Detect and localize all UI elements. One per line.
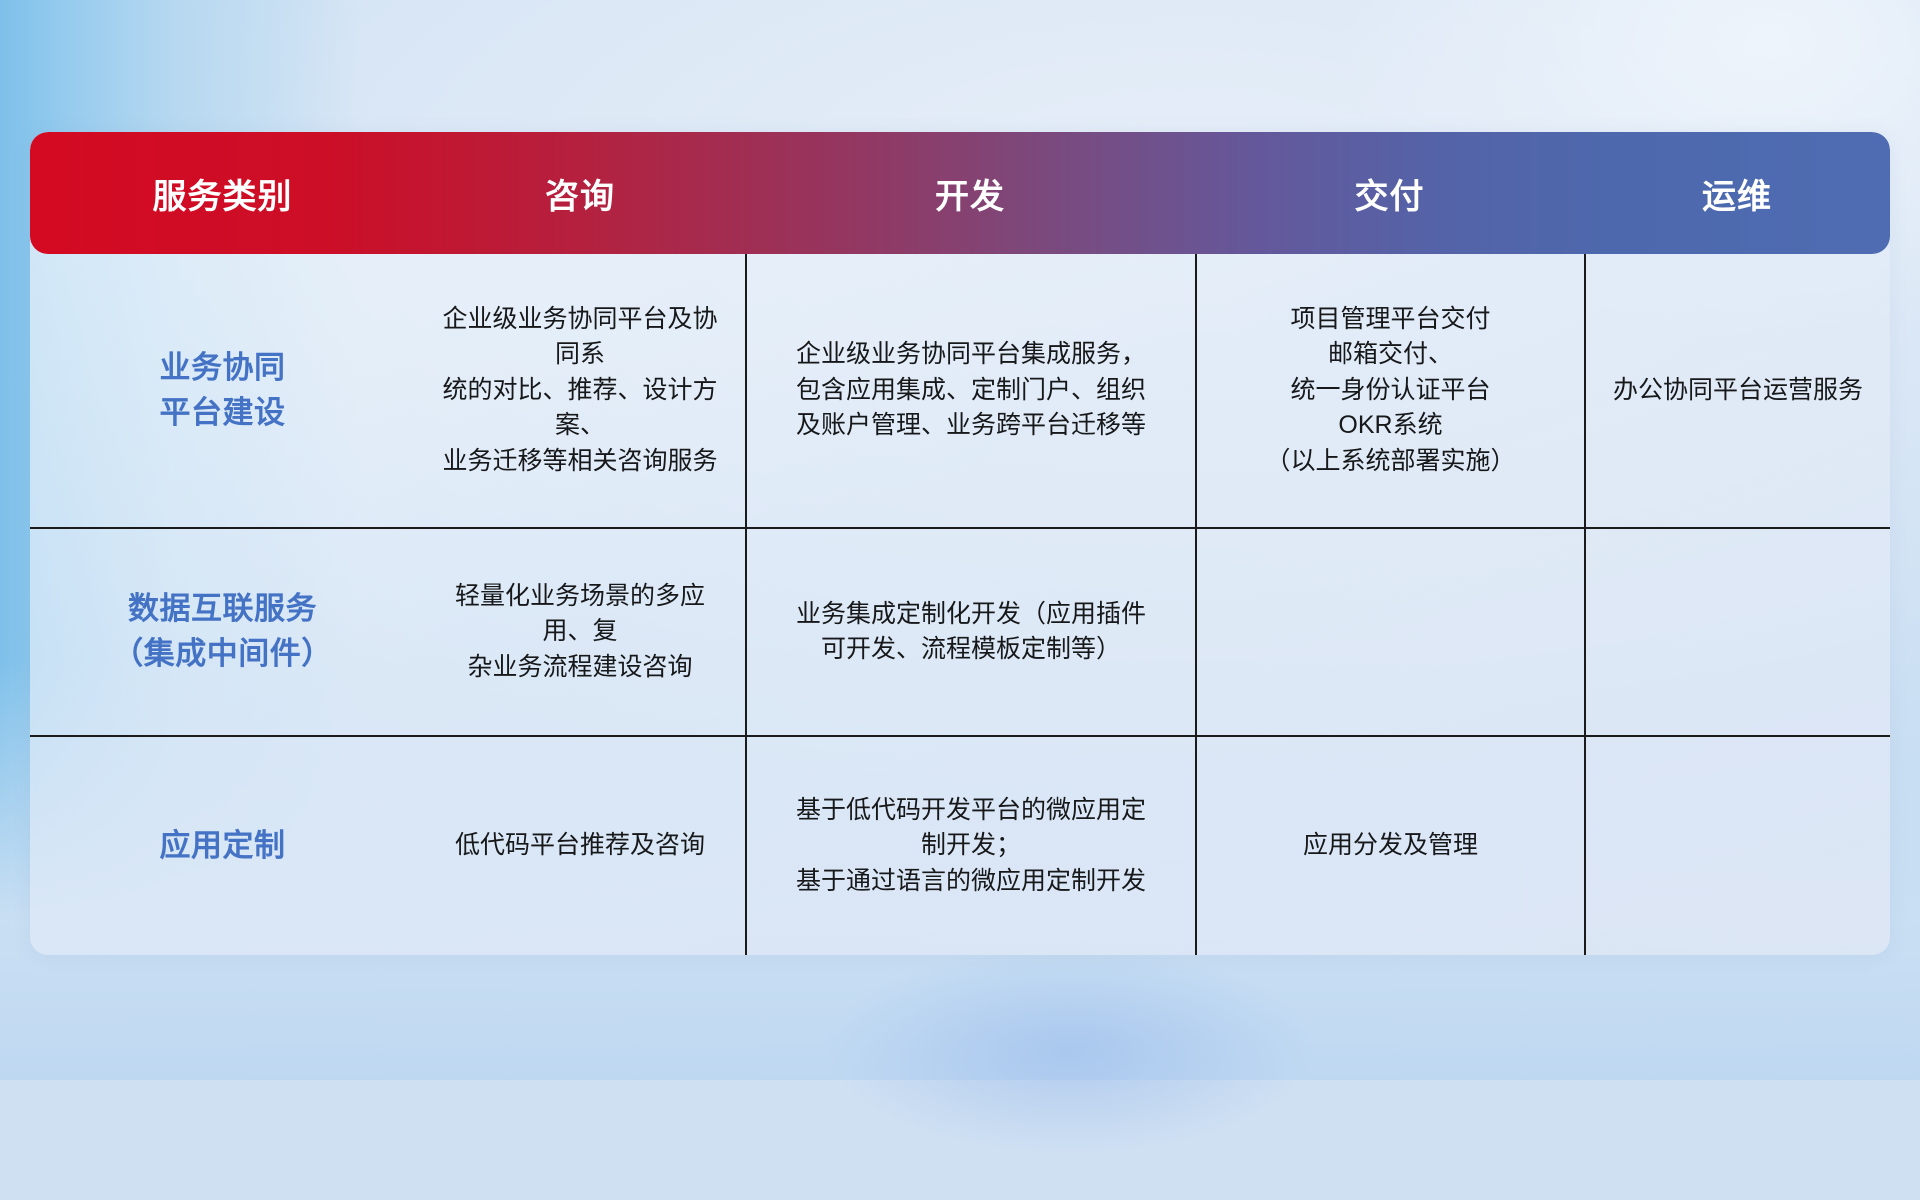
table-row: 应用定制 低代码平台推荐及咨询 基于低代码开发平台的微应用定 制开发； 基于通过… (30, 735, 1890, 955)
service-matrix-panel: 服务类别 咨询 开发 交付 运维 业务协同 平台建设 企业级业务协同平台及协同系… (30, 132, 1890, 955)
table-header-row: 服务类别 咨询 开发 交付 运维 (30, 132, 1890, 254)
cell-delivery (1195, 529, 1584, 735)
column-header-delivery: 交付 (1195, 169, 1584, 218)
column-header-service-category: 服务类别 (30, 169, 415, 218)
cell-delivery: 应用分发及管理 (1195, 737, 1584, 955)
cell-operations (1584, 737, 1890, 955)
cell-development: 企业级业务协同平台集成服务， 包含应用集成、定制门户、组织 及账户管理、业务跨平… (745, 254, 1195, 527)
cell-operations: 办公协同平台运营服务 (1584, 254, 1890, 527)
row-category-label: 数据互联服务 （集成中间件） (30, 529, 415, 735)
table-body: 业务协同 平台建设 企业级业务协同平台及协同系 统的对比、推荐、设计方案、 业务… (30, 254, 1890, 955)
column-header-development: 开发 (745, 169, 1195, 218)
column-header-consulting: 咨询 (415, 169, 745, 218)
cell-consulting: 轻量化业务场景的多应用、复 杂业务流程建设咨询 (415, 529, 745, 735)
table-row: 数据互联服务 （集成中间件） 轻量化业务场景的多应用、复 杂业务流程建设咨询 业… (30, 527, 1890, 735)
cell-consulting: 企业级业务协同平台及协同系 统的对比、推荐、设计方案、 业务迁移等相关咨询服务 (415, 254, 745, 527)
cell-consulting: 低代码平台推荐及咨询 (415, 737, 745, 955)
column-header-operations: 运维 (1584, 169, 1890, 218)
cell-development: 基于低代码开发平台的微应用定 制开发； 基于通过语言的微应用定制开发 (745, 737, 1195, 955)
cell-delivery: 项目管理平台交付 邮箱交付、 统一身份认证平台 OKR系统 （以上系统部署实施） (1195, 254, 1584, 527)
row-category-label: 应用定制 (30, 737, 415, 955)
cell-operations (1584, 529, 1890, 735)
row-category-label: 业务协同 平台建设 (30, 254, 415, 527)
table-row: 业务协同 平台建设 企业级业务协同平台及协同系 统的对比、推荐、设计方案、 业务… (30, 254, 1890, 527)
cell-development: 业务集成定制化开发（应用插件 可开发、流程模板定制等） (745, 529, 1195, 735)
